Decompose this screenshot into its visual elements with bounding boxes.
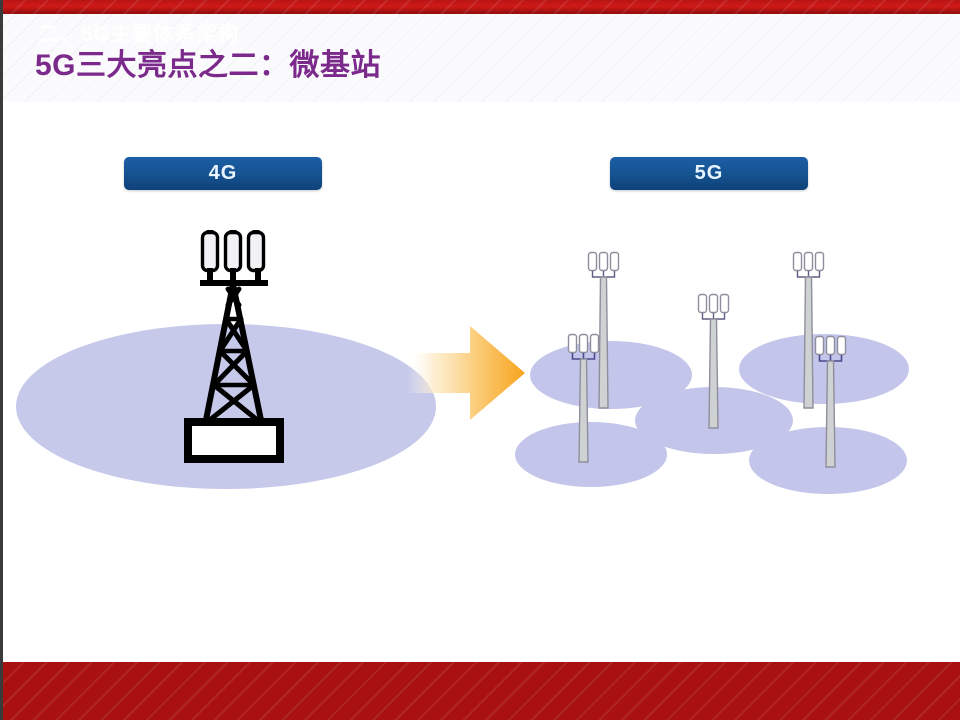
transition-arrow	[407, 320, 529, 426]
label-badge-4g: 4G	[124, 157, 322, 190]
top-accent-bar	[3, 0, 960, 14]
macro-tower-icon	[173, 227, 295, 462]
top-bar-texture	[3, 0, 960, 14]
arrow-right-icon	[407, 320, 529, 426]
footer-bar	[3, 662, 960, 720]
small-cell-icon	[694, 292, 734, 430]
small-cell-icon	[564, 332, 604, 464]
small-cell-icon	[811, 334, 851, 469]
macro-tower-4g	[173, 227, 295, 462]
small-cell-tower-5	[811, 334, 851, 469]
small-cell-tower-2	[564, 332, 604, 464]
small-cell-tower-3	[694, 292, 734, 430]
label-badge-5g: 5G	[610, 157, 808, 190]
diagram-canvas: 4G 5G	[3, 102, 960, 662]
slide-root: 5G三大亮点之二：微基站	[0, 0, 960, 720]
footer-texture	[3, 662, 960, 720]
page-title: 5G三大亮点之二：微基站	[35, 40, 381, 84]
